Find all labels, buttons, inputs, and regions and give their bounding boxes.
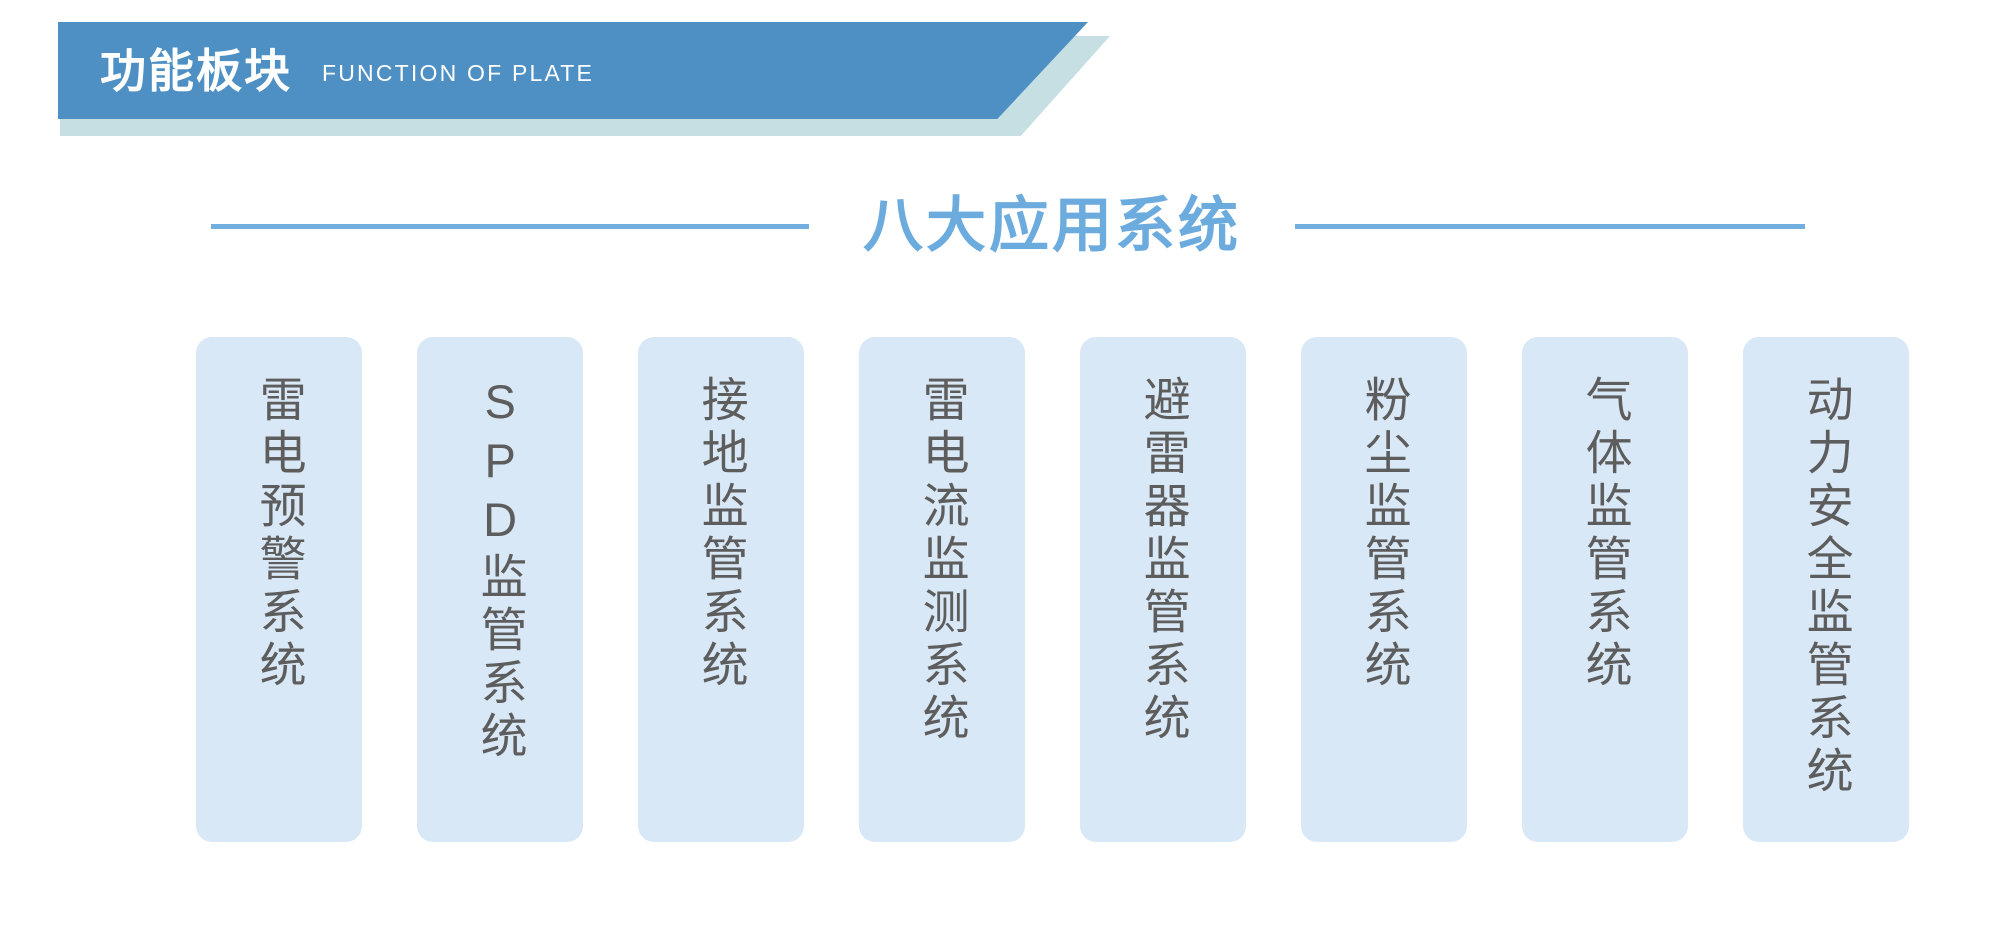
system-card[interactable]: 气体监管系统: [1522, 337, 1688, 842]
page-title: 八大应用系统: [863, 196, 1241, 256]
banner-title-cn: 功能板块: [100, 48, 292, 94]
section-rule-left: [211, 224, 809, 229]
system-card[interactable]: 接地监管系统: [638, 337, 804, 842]
section-rule-right: [1295, 224, 1805, 229]
system-card-label: 避雷器监管系统: [1134, 375, 1191, 746]
system-card-label: 粉尘监管系统: [1355, 375, 1412, 693]
system-card[interactable]: 雷电流监测系统: [859, 337, 1025, 842]
system-card[interactable]: SPD监管系统: [417, 337, 583, 842]
system-card-label: 雷电预警系统: [250, 375, 307, 693]
system-card[interactable]: 雷电预警系统: [196, 337, 362, 842]
banner-title-en: FUNCTION OF PLATE: [322, 56, 594, 85]
application-systems-list: 雷电预警系统 SPD监管系统 接地监管系统 雷电流监测系统 避雷器监管系统 粉尘…: [196, 337, 1986, 912]
function-banner: 功能板块 FUNCTION OF PLATE: [0, 22, 1160, 134]
system-card[interactable]: 避雷器监管系统: [1080, 337, 1246, 842]
system-card-label: 接地监管系统: [692, 375, 749, 693]
system-card-label: 雷电流监测系统: [913, 375, 970, 746]
system-card-label: 动力安全监管系统: [1797, 375, 1854, 799]
section-header: 八大应用系统: [0, 185, 2016, 267]
system-card-label: 气体监管系统: [1576, 375, 1633, 693]
system-card[interactable]: 粉尘监管系统: [1301, 337, 1467, 842]
system-card[interactable]: 动力安全监管系统: [1743, 337, 1909, 842]
banner-text-group: 功能板块 FUNCTION OF PLATE: [100, 22, 594, 119]
system-card-label: SPD监管系统: [471, 375, 528, 764]
